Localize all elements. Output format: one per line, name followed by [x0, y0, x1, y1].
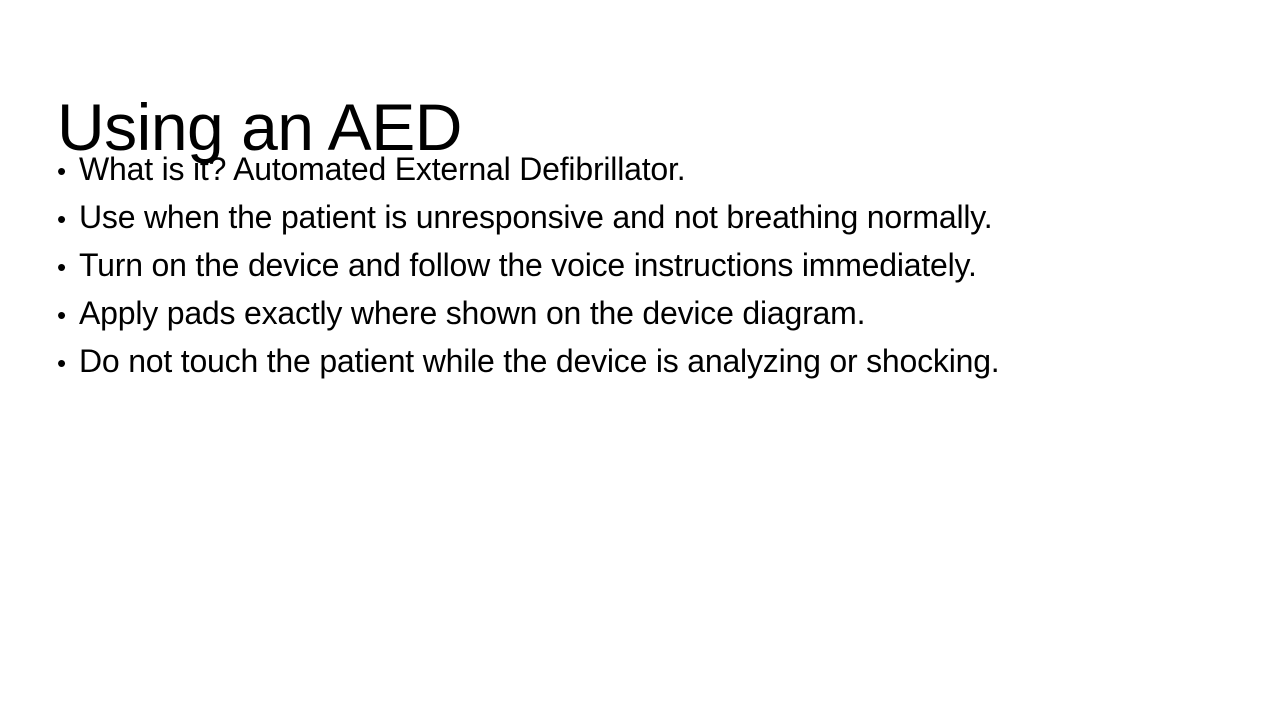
list-item: • Do not touch the patient while the dev… — [57, 338, 1217, 386]
list-item-text: Turn on the device and follow the voice … — [79, 242, 977, 288]
bullet-point-icon: • — [57, 196, 79, 242]
list-item-text: Use when the patient is unresponsive and… — [79, 194, 992, 240]
list-item-text: Apply pads exactly where shown on the de… — [79, 290, 865, 336]
list-item: • Apply pads exactly where shown on the … — [57, 290, 1217, 338]
bullet-point-icon: • — [57, 340, 79, 386]
list-item-text: What is it? Automated External Defibrill… — [79, 146, 685, 192]
list-item: • Turn on the device and follow the voic… — [57, 242, 1217, 290]
list-item: • Use when the patient is unresponsive a… — [57, 194, 1217, 242]
bullet-point-icon: • — [57, 292, 79, 338]
bullet-point-icon: • — [57, 148, 79, 194]
bullet-list: • What is it? Automated External Defibri… — [57, 146, 1217, 386]
bullet-point-icon: • — [57, 244, 79, 290]
list-item: • What is it? Automated External Defibri… — [57, 146, 1217, 194]
list-item-text: Do not touch the patient while the devic… — [79, 338, 1000, 384]
presentation-slide: Using an AED • What is it? Automated Ext… — [0, 0, 1280, 720]
